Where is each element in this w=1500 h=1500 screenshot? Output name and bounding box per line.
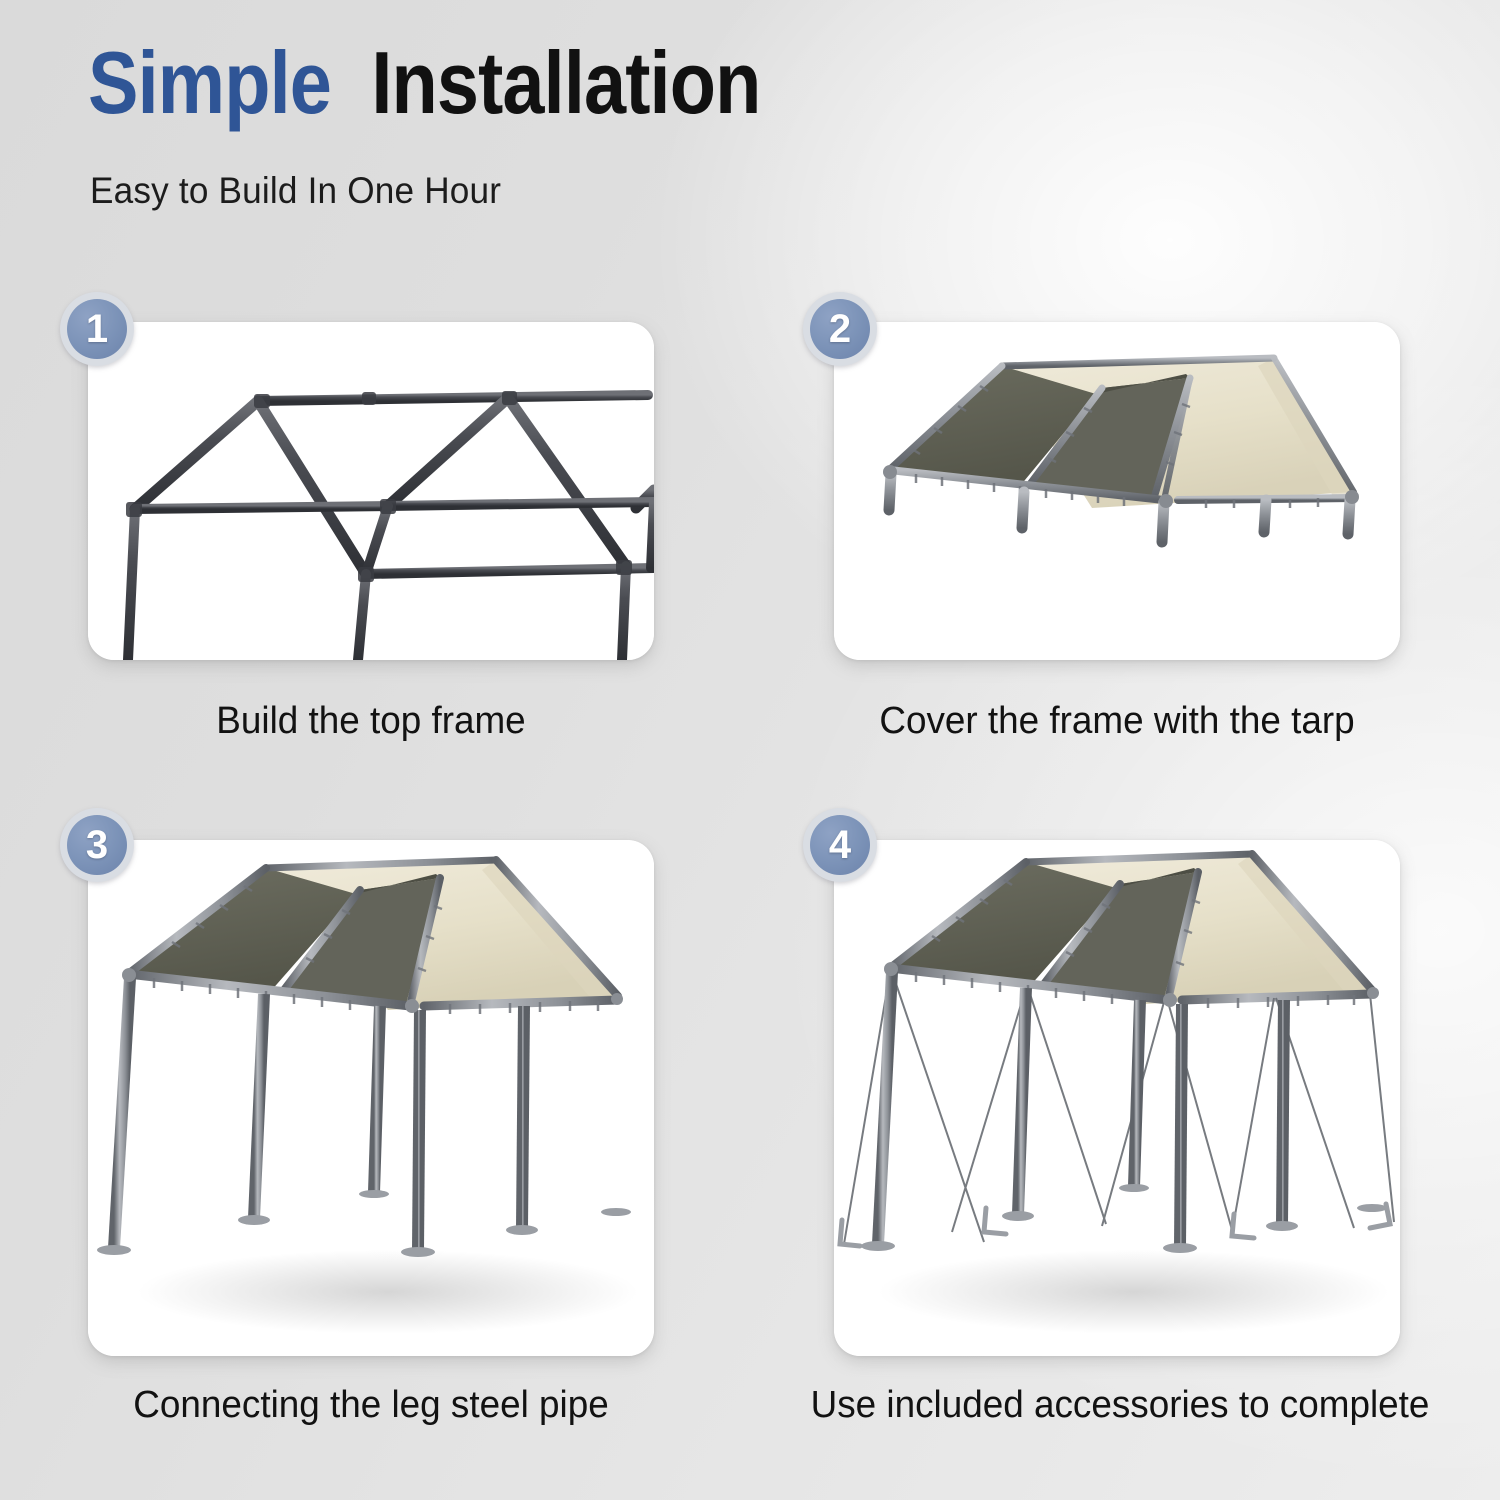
carport-with-guy-ropes-illustration	[834, 840, 1400, 1356]
step-4-caption: Use included accessories to complete	[800, 1384, 1440, 1427]
step-4-image-card	[834, 840, 1400, 1356]
page-title-accent: Simple	[88, 33, 351, 132]
step-2-image-card	[834, 322, 1400, 660]
steel-truss-frame-illustration	[88, 322, 654, 660]
step-3-badge: 3	[60, 808, 134, 882]
step-2-caption: Cover the frame with the tarp	[842, 700, 1391, 743]
page-subtitle: Easy to Build In One Hour	[90, 170, 501, 212]
step-3-image-card	[88, 840, 654, 1356]
step-3-number: 3	[67, 815, 127, 875]
installation-infographic: Simple Installation Easy to Build In One…	[0, 0, 1500, 1500]
step-1-badge: 1	[60, 292, 134, 366]
page-title-rest: Installation	[371, 33, 760, 132]
roof-frame-with-tarp-illustration	[834, 322, 1400, 660]
step-3-caption: Connecting the leg steel pipe	[87, 1384, 655, 1427]
page-title: Simple Installation	[88, 38, 760, 128]
step-2-number: 2	[810, 299, 870, 359]
carport-with-legs-illustration	[88, 840, 654, 1356]
step-1-caption: Build the top frame	[96, 700, 645, 743]
step-4-badge: 4	[803, 808, 877, 882]
step-4-number: 4	[810, 815, 870, 875]
step-2-badge: 2	[803, 292, 877, 366]
step-1-image-card	[88, 322, 654, 660]
step-1-number: 1	[67, 299, 127, 359]
